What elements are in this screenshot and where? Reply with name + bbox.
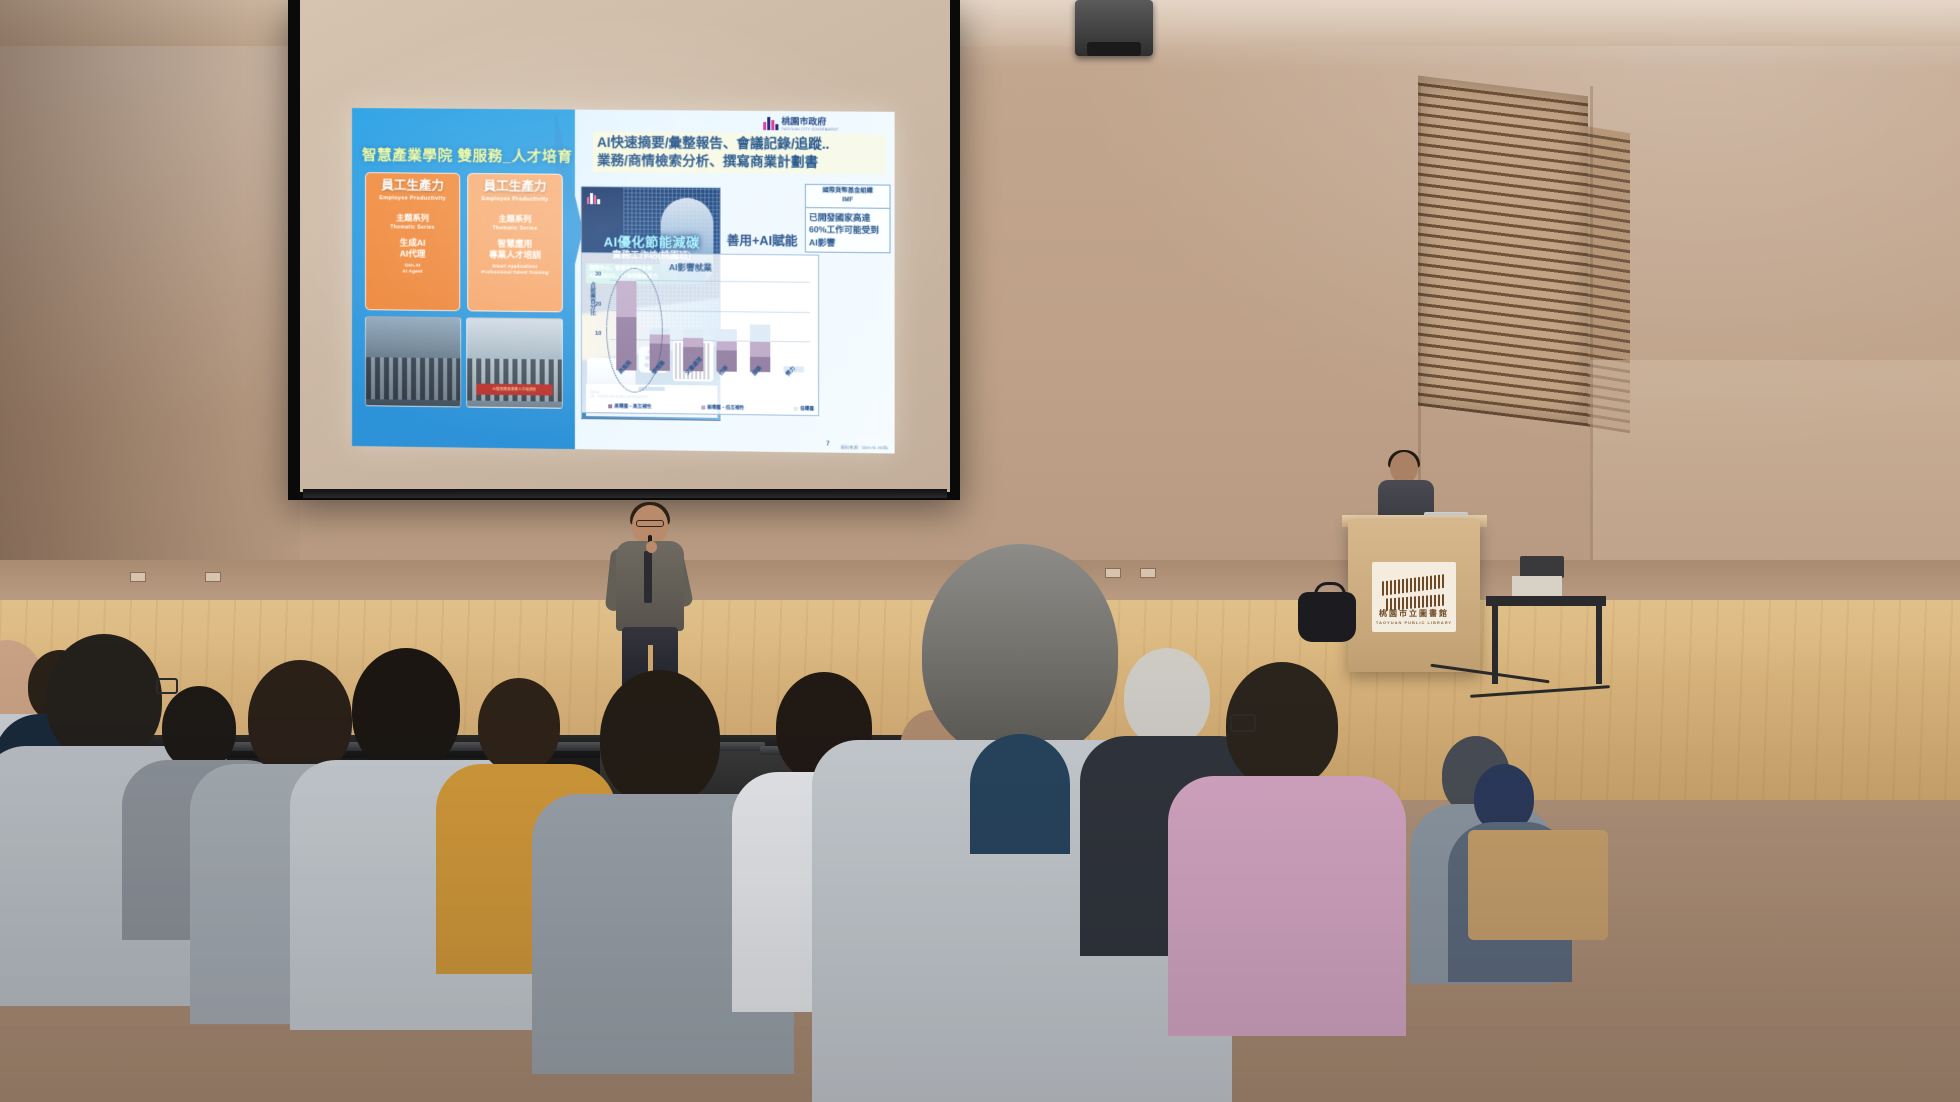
wall-outlet (1105, 568, 1121, 578)
chart-bar (716, 273, 736, 372)
box-heading-cn: 員工生產力 (369, 179, 456, 194)
photo-banner: AI智慧應用專業人才培訓班 (477, 384, 553, 396)
wall-cabinet (1520, 556, 1564, 578)
training-photo-2: AI智慧應用專業人才培訓班 (466, 317, 563, 408)
training-photo-group: AI智慧應用專業人才培訓班 (365, 316, 563, 409)
productivity-box-group: 員工生產力 Employee Productivity 主題系列 Themati… (365, 172, 563, 312)
presenter-shoe (620, 691, 644, 700)
screenshot-root: 智慧產業學院 雙服務_人才培育 員工生產力 Employee Productiv… (0, 0, 1960, 1102)
training-photo-1 (365, 316, 461, 407)
taoyuan-emblem-icon (763, 115, 778, 130)
table-leg (1596, 604, 1602, 684)
box-heading-en: Employee Productivity (369, 195, 456, 202)
box-keyword-en: Smart Applications Professional Talent T… (471, 263, 559, 276)
headline-line-2: 業務/商情檢索分析、撰寫商業計劃書 (597, 152, 881, 172)
spotlight-fixture (1075, 0, 1153, 56)
side-table (1486, 596, 1606, 606)
taoyuan-emblem-icon (587, 192, 600, 204)
library-logo-en: TAOYUAN PUBLIC LIBRARY (1372, 620, 1456, 625)
presenter-hand (646, 541, 657, 553)
screen-bottom-bar (303, 489, 947, 498)
productivity-box-genai: 員工生產力 Employee Productivity 主題系列 Themati… (365, 172, 460, 311)
box-keyword-cn: 智慧應用 專業人才培訓 (471, 238, 559, 262)
seat-rail (205, 742, 765, 751)
chart-legend-label: 低曝露 (800, 406, 814, 412)
chart-y-axis-label: 占就業百分比 (585, 281, 594, 315)
box-subhead-cn: 主題系列 (471, 212, 559, 225)
wall-outlet (130, 572, 146, 582)
gov-logo-en: TAOYUAN CITY GOVERNMENT (781, 127, 838, 131)
chart-y-tick: 10 (595, 331, 601, 337)
presenter-shoe (656, 691, 680, 700)
box-keyword-cn: 生成AI AI代理 (369, 237, 456, 261)
imf-callout-box: 國際貨幣基金組織 IMF 已開發國家高達60%工作可能受到AI影響 (805, 184, 891, 254)
photo-crowd (366, 357, 460, 400)
chart-bar-segment (750, 342, 770, 357)
chart-source-note: 資料來源：Gen-AI: Artificial Intelligence and… (841, 445, 889, 452)
chart-legend-item: 高曝露・低互補性 (701, 405, 744, 412)
gov-logo-cn: 桃園市政府 (781, 114, 838, 128)
wall-outlet (205, 572, 221, 582)
slide-slogan: 善用+AI賦能 (727, 230, 798, 250)
box-subhead-en: Thematic Series (471, 225, 559, 232)
chart-y-tick: 30 (595, 271, 601, 277)
imf-org-name: 國際貨幣基金組織 IMF (806, 185, 890, 209)
left-wall-shadow (0, 0, 300, 640)
chart-legend-label: 高曝露・低互補性 (707, 405, 744, 412)
slide-right-panel: 桃園市政府 TAOYUAN CITY GOVERNMENT AI快速摘要/彙整報… (575, 110, 895, 454)
seat-rail (760, 746, 1010, 755)
chart-legend-swatch (608, 404, 612, 408)
chart-legend-item: 低曝露 (794, 406, 814, 412)
ai-employment-impact-chart: AI影響就業 占就業百分比 102030 高風險管理職文書處理技術服務勞力 高曝… (581, 252, 819, 416)
chart-bar (750, 273, 770, 372)
chart-bar-segment (716, 342, 736, 351)
wall-outlet (1140, 568, 1156, 578)
chair-back (1040, 810, 1130, 870)
box-keyword-en: Gen.AI AI Agent (369, 262, 456, 275)
slide-number: 7 (826, 441, 829, 447)
chart-annotation-ellipse (606, 268, 663, 393)
imf-org-en: IMF (807, 196, 889, 206)
chart-legend-swatch (701, 406, 705, 410)
slide-left-title: 智慧產業學院 雙服務_人才培育 (362, 144, 575, 167)
presenter-glasses (636, 520, 664, 527)
chart-legend: 高曝露・高互補性高曝露・低互補性低曝露 (608, 403, 814, 412)
gov-logo: 桃園市政府 TAOYUAN CITY GOVERNMENT (763, 114, 839, 132)
chart-bar-segment (750, 324, 770, 342)
headline-line-1: AI快速摘要/彙整報告、會議記錄/追蹤.. (597, 134, 881, 154)
chart-bar-segment (683, 329, 703, 338)
presenter-tie (644, 551, 652, 603)
productivity-box-smart-apps: 員工生產力 Employee Productivity 主題系列 Themati… (467, 173, 563, 312)
presenter-leg-gap (648, 645, 653, 697)
chair-back (880, 820, 1040, 900)
chart-legend-swatch (794, 407, 798, 411)
chart-bar (783, 273, 803, 372)
box-subhead-en: Thematic Series (369, 224, 456, 231)
box-heading-en: Employee Productivity (471, 196, 559, 203)
library-logo-cn: 桃園市立圖書館 (1372, 608, 1456, 619)
chart-legend-item: 高曝露・高互補性 (608, 403, 651, 410)
presenter (600, 505, 700, 700)
chart-legend-label: 高曝露・高互補性 (614, 403, 651, 410)
imf-statement: 已開發國家高達60%工作可能受到AI影響 (806, 208, 890, 253)
chart-bar-segment (683, 338, 703, 347)
chart-bar-segment (716, 330, 736, 342)
acoustic-slat-panel (1418, 76, 1588, 427)
presentation-slide: 智慧產業學院 雙服務_人才培育 員工生產力 Employee Productiv… (352, 108, 895, 454)
backpack (1298, 592, 1356, 642)
photo-banner-text: AI智慧應用專業人才培訓班 (477, 384, 553, 396)
box-heading-cn: 員工生產力 (471, 180, 559, 195)
slide-headline: AI快速摘要/彙整報告、會議記錄/追蹤.. 業務/商情檢索分析、撰寫商業計劃書 (593, 132, 885, 175)
box-subhead-cn: 主題系列 (369, 211, 456, 224)
chart-y-tick: 20 (595, 301, 601, 307)
